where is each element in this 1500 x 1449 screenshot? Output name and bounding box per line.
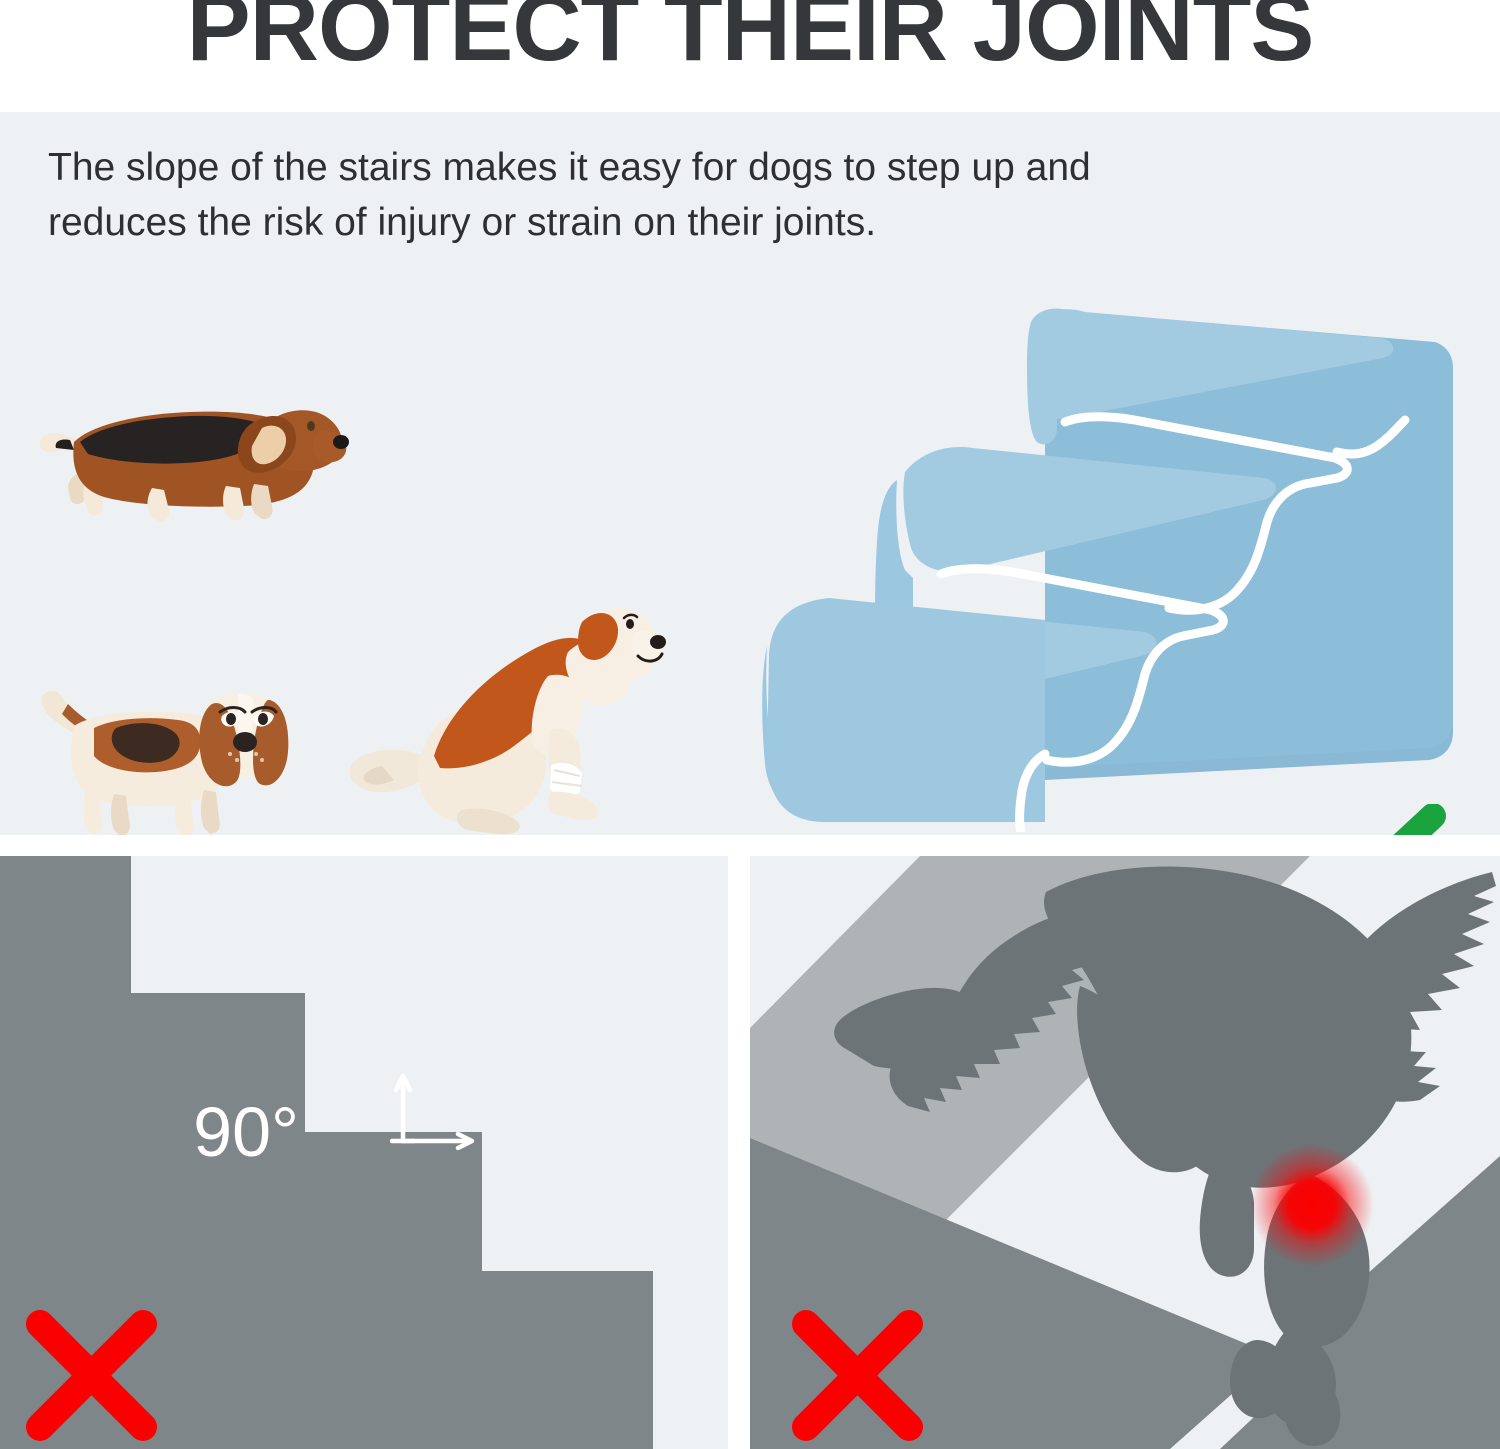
injured-dog-bandage-icon xyxy=(342,580,672,835)
senior-basset-hound-icon xyxy=(32,670,302,835)
bottom-right-panel-ramp-jump xyxy=(750,856,1500,1449)
top-panel-recommended: The slope of the stairs makes it easy fo… xyxy=(0,112,1500,835)
bottom-left-panel-steep-stairs: 90° xyxy=(0,856,728,1449)
basset-hound-walking-icon xyxy=(30,380,350,530)
green-check-icon xyxy=(1297,804,1447,835)
page-title: PROTECT THEIR JOINTS xyxy=(0,0,1500,79)
angle-label: 90° xyxy=(193,1093,299,1171)
infographic-page: PROTECT THEIR JOINTS The slope of the st… xyxy=(0,0,1500,1449)
blue-foam-pet-stairs-icon xyxy=(745,302,1455,835)
red-pain-glow-icon xyxy=(1250,1143,1374,1267)
header-band: PROTECT THEIR JOINTS xyxy=(0,0,1500,112)
intro-description: The slope of the stairs makes it easy fo… xyxy=(48,140,1108,251)
